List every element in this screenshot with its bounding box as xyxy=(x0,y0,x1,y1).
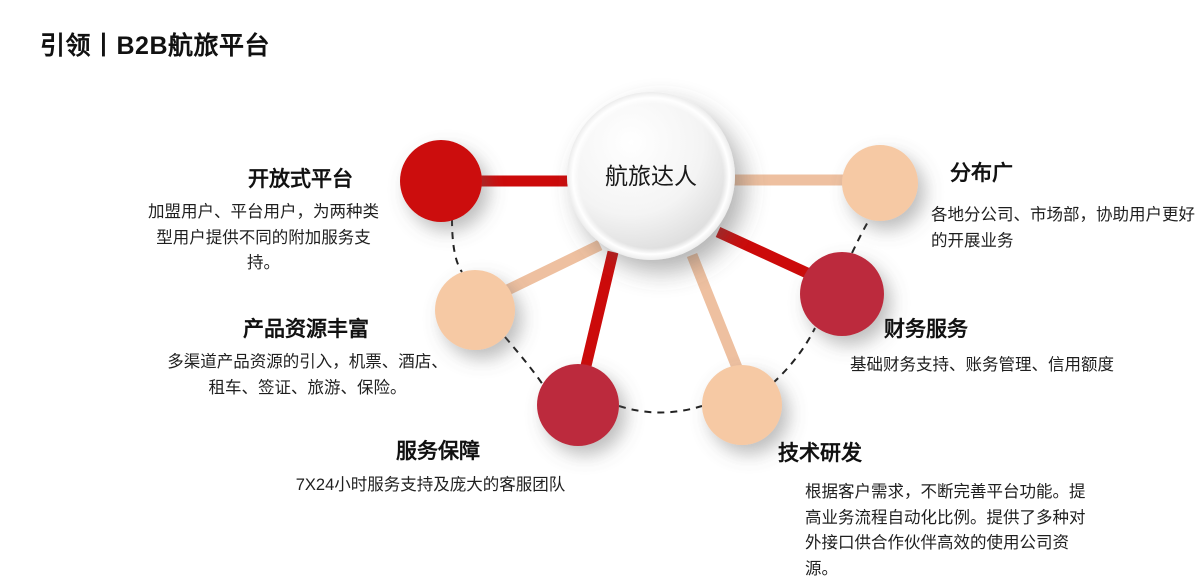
node-title-tech-rd: 技术研发 xyxy=(778,437,862,467)
ring-arc-finance-to-distribution xyxy=(852,220,869,253)
ring-arc-product-to-service xyxy=(505,337,545,388)
node-title-service-guarantee: 服务保障 xyxy=(396,435,480,465)
node-desc-product-resource: 多渠道产品资源的引入，机票、酒店、租车、签证、旅游、保险。 xyxy=(160,350,455,401)
node-wide-distribution[interactable] xyxy=(842,145,918,221)
hub-label: 航旅达人 xyxy=(605,163,697,189)
spoke-tech-rd xyxy=(692,255,738,370)
node-open-platform[interactable] xyxy=(400,140,482,222)
node-title-product-resource: 产品资源丰富 xyxy=(243,313,369,343)
node-service-guarantee[interactable] xyxy=(537,364,619,446)
node-finance-service[interactable] xyxy=(800,252,884,336)
node-title-open-platform: 开放式平台 xyxy=(248,163,353,193)
node-desc-tech-rd: 根据客户需求，不断完善平台功能。提高业务流程自动化比例。提供了多种对外接口供合作… xyxy=(805,480,1095,582)
spoke-finance-service xyxy=(718,232,818,278)
node-desc-service-guarantee: 7X24小时服务支持及庞大的客服团队 xyxy=(258,473,603,499)
hub-node[interactable]: 航旅达人 xyxy=(567,92,735,260)
node-desc-finance-service: 基础财务支持、账务管理、信用额度 xyxy=(850,353,1195,379)
spoke-service-guarantee xyxy=(585,252,613,370)
node-product-resource[interactable] xyxy=(435,270,515,350)
node-desc-wide-distribution: 各地分公司、市场部，协助用户更好的开展业务 xyxy=(931,203,1196,254)
ring-arc-open-to-product xyxy=(452,219,462,272)
ring-arc-service-to-tech xyxy=(619,406,702,413)
node-desc-open-platform: 加盟用户、平台用户，为两种类型用户提供不同的附加服务支持。 xyxy=(146,200,381,277)
node-tech-rd[interactable] xyxy=(702,365,782,445)
node-title-finance-service: 财务服务 xyxy=(884,313,968,343)
node-title-wide-distribution: 分布广 xyxy=(950,157,1013,187)
ring-arc-tech-to-finance xyxy=(773,328,815,383)
